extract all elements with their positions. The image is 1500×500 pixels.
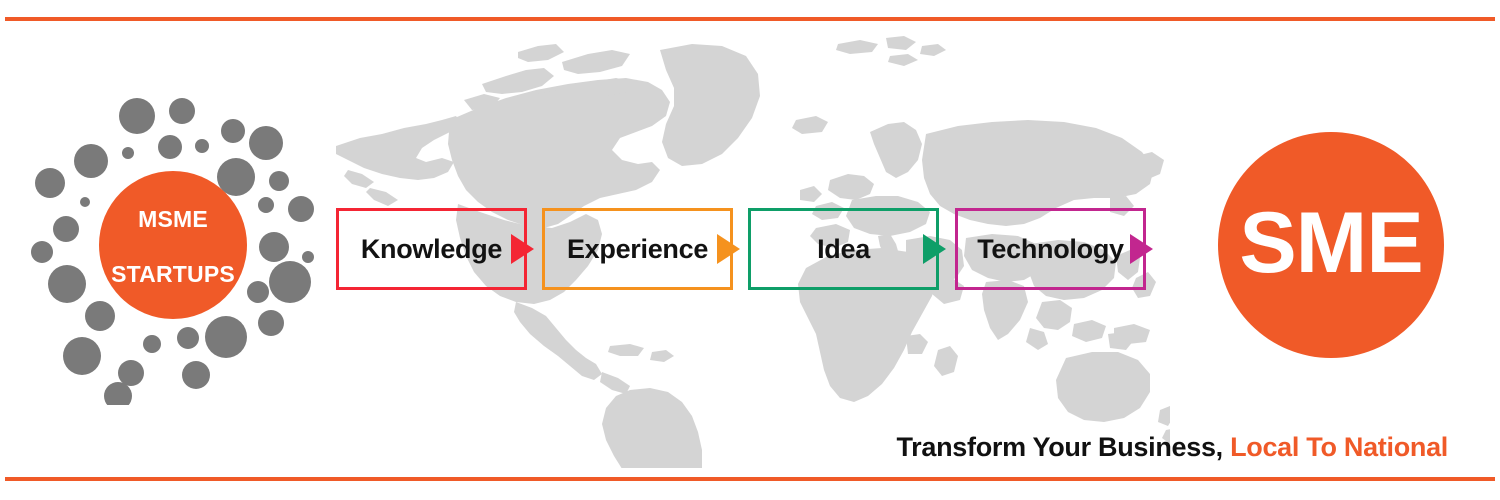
msme-startups-emblem: [30, 85, 320, 405]
top-divider-rule: [5, 17, 1495, 21]
arrow-right-icon: [923, 234, 946, 264]
sme-circle: SME: [1218, 132, 1444, 358]
tagline-primary: Transform Your Business,: [896, 432, 1222, 462]
stage-label: Knowledge: [361, 234, 502, 265]
arrow-right-icon: [717, 234, 740, 264]
bottom-divider-rule: [5, 477, 1495, 481]
stage-label: Idea: [817, 234, 870, 265]
stage-box-idea[interactable]: Idea: [748, 208, 939, 290]
tagline: Transform Your Business, Local To Nation…: [896, 432, 1448, 463]
msme-core-circle: [99, 171, 247, 319]
stage-box-experience[interactable]: Experience: [542, 208, 733, 290]
sme-label: SME: [1239, 200, 1422, 286]
arrow-right-icon: [1130, 234, 1153, 264]
stage-label: Experience: [567, 234, 708, 265]
stage-box-technology[interactable]: Technology: [955, 208, 1146, 290]
tagline-accent: Local To National: [1230, 432, 1448, 462]
stage-box-knowledge[interactable]: Knowledge: [336, 208, 527, 290]
banner-root: MSME STARTUPS KnowledgeExperienceIdeaTec…: [0, 0, 1500, 500]
arrow-right-icon: [511, 234, 534, 264]
stage-label: Technology: [977, 234, 1124, 265]
